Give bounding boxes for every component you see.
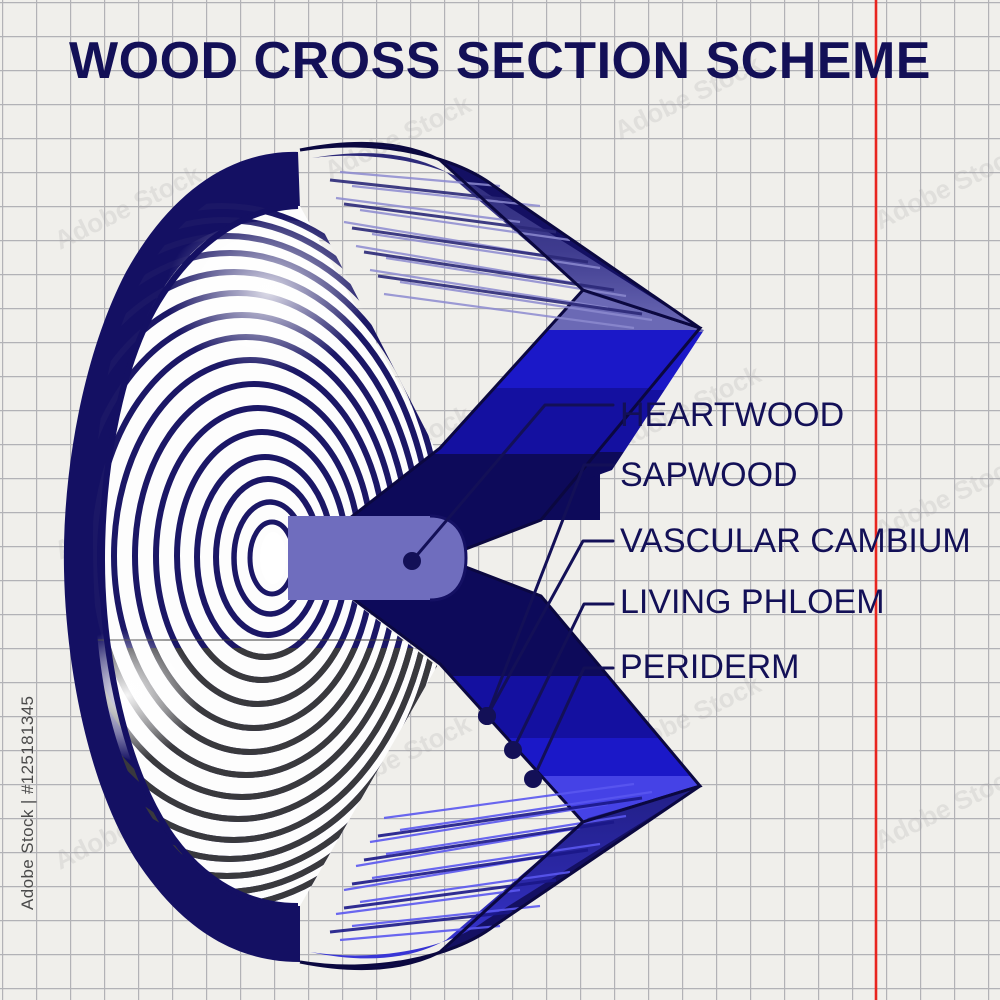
callout-label-sapwood[interactable]: SAPWOOD bbox=[620, 456, 798, 494]
pith bbox=[260, 532, 286, 584]
callout-label-living-phloem[interactable]: LIVING PHLOEM bbox=[620, 583, 885, 621]
callout-label-vascular-cambium[interactable]: VASCULAR CAMBIUM bbox=[620, 522, 971, 560]
callout-label-heartwood[interactable]: HEARTWOOD bbox=[620, 396, 844, 434]
diagram-canvas: Adobe Stock Adobe Stock Adobe Stock Adob… bbox=[0, 0, 1000, 1000]
page-title: WOOD CROSS SECTION SCHEME bbox=[69, 32, 931, 90]
callout-label-periderm[interactable]: PERIDERM bbox=[620, 648, 799, 686]
